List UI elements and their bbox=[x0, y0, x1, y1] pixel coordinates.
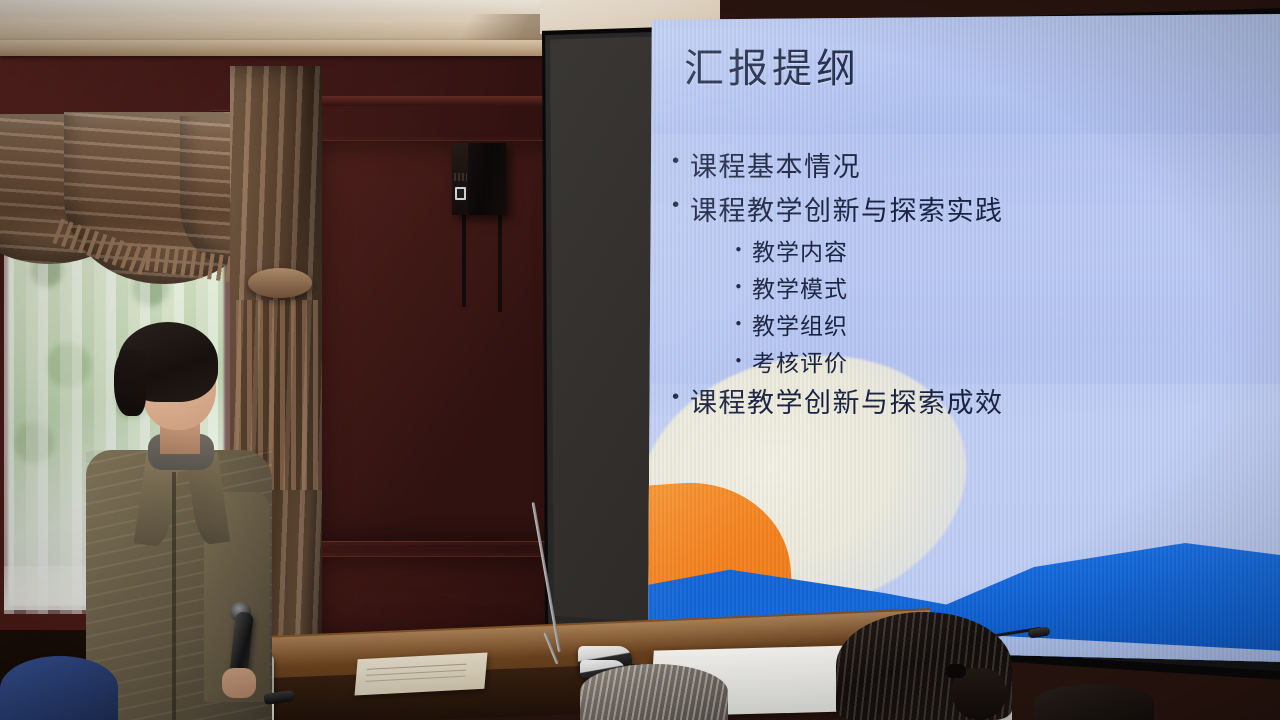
slide-bullet-level2: 考核评价 bbox=[660, 353, 1270, 376]
slide-bullet-level2: 教学内容 bbox=[660, 242, 1270, 265]
wall-speaker bbox=[452, 143, 506, 215]
slide-bullet-level1: 课程教学创新与探索实践 bbox=[660, 198, 1270, 225]
audience-member-grey-hair bbox=[580, 664, 728, 720]
speaker-mount-bracket bbox=[498, 212, 502, 312]
presenter bbox=[86, 322, 272, 720]
slide-content: 汇报提纲 课程基本情况 课程教学创新与探索实践 教学内容 教学模式 教学组织 考… bbox=[648, 14, 1280, 662]
presenter-hand bbox=[222, 668, 256, 698]
printed-papers bbox=[355, 652, 488, 695]
curtain-tieback bbox=[248, 268, 312, 298]
wall-panel-center bbox=[316, 140, 568, 542]
slide-bullet-level1: 课程基本情况 bbox=[660, 154, 1270, 181]
presenter-jacket-placket bbox=[172, 472, 176, 720]
slide-title: 汇报提纲 bbox=[684, 36, 860, 94]
speaker-brand-logo-icon bbox=[455, 187, 466, 200]
speaker-mount-bracket bbox=[462, 212, 466, 307]
screenshot-root: 汇报提纲 课程基本情况 课程教学创新与探索实践 教学内容 教学模式 教学组织 考… bbox=[0, 0, 1280, 720]
hair-tie bbox=[946, 664, 966, 678]
slide-surface[interactable]: 汇报提纲 课程基本情况 课程教学创新与探索实践 教学内容 教学模式 教学组织 考… bbox=[648, 14, 1280, 662]
slide-bullet-level1: 课程教学创新与探索成效 bbox=[660, 390, 1270, 417]
speaker-tweeter-slot bbox=[454, 173, 467, 181]
slide-bullet-list: 课程基本情况 课程教学创新与探索实践 教学内容 教学模式 教学组织 考核评价 课… bbox=[660, 154, 1270, 434]
wall-chair-rail bbox=[300, 96, 560, 106]
audience-member-right bbox=[1034, 684, 1154, 720]
presenter-hair-side bbox=[114, 350, 146, 416]
audience-member-left bbox=[0, 656, 118, 720]
slide-bullet-level2: 教学组织 bbox=[660, 316, 1270, 339]
slide-bullet-level2: 教学模式 bbox=[660, 279, 1270, 302]
